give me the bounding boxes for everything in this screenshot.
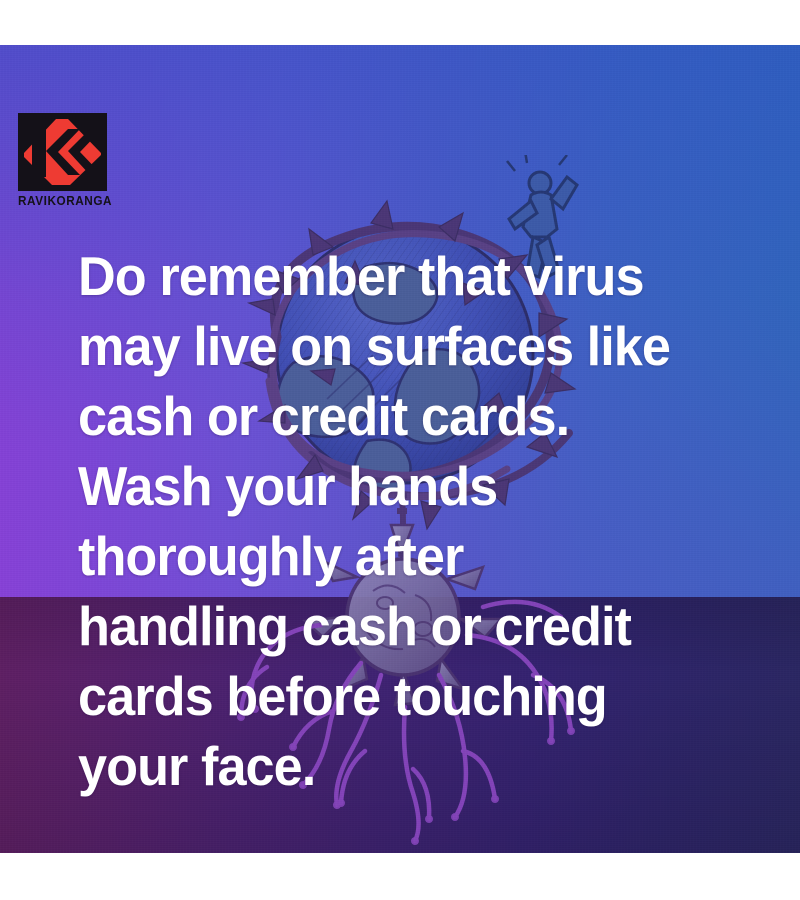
artwork-area: RAVIKORANGA Do remember that virus may l… bbox=[0, 45, 800, 853]
headline-line: cash or credit cards. bbox=[78, 381, 724, 451]
brand-logo[interactable]: RAVIKORANGA bbox=[18, 113, 118, 208]
headline-line: Do remember that virus bbox=[78, 241, 724, 311]
headline-line: your face. bbox=[78, 731, 724, 801]
headline-line: Wash your hands bbox=[78, 451, 724, 521]
headline-text: Do remember that virus may live on surfa… bbox=[78, 241, 758, 801]
headline-line: may live on surfaces like bbox=[78, 311, 724, 381]
headline-line: thoroughly after bbox=[78, 521, 724, 591]
kk-monogram-icon bbox=[18, 113, 107, 191]
poster-canvas: RAVIKORANGA Do remember that virus may l… bbox=[0, 0, 800, 900]
brand-wordmark: RAVIKORANGA bbox=[18, 195, 112, 208]
headline-line: handling cash or credit bbox=[78, 591, 724, 661]
headline-line: cards before touching bbox=[78, 661, 724, 731]
